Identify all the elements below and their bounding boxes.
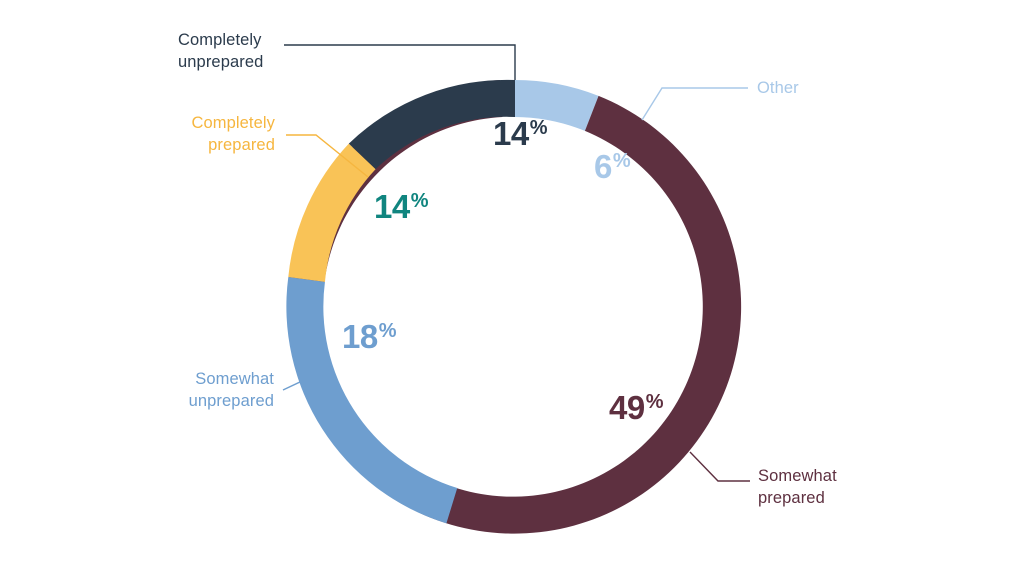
slice-value-number-somewhat-prepared: 49 [609, 389, 645, 426]
slice-value-number-completely-unprepared: 14 [493, 115, 529, 152]
slice-value-number-other: 6 [594, 148, 612, 185]
slice-label-somewhat-prepared: Somewhat prepared [758, 466, 938, 510]
slice-value-completely-prepared: 14% [374, 190, 429, 223]
percent-symbol-somewhat-unprepared: % [379, 320, 397, 342]
slice-label-other: Other [757, 78, 877, 100]
slice-value-somewhat-prepared: 49% [609, 391, 664, 424]
leader-line-somewhat-prepared [690, 452, 750, 481]
slice-value-other: 6% [594, 150, 631, 183]
slice-value-number-somewhat-unprepared: 18 [342, 318, 378, 355]
percent-symbol-somewhat-prepared: % [646, 391, 664, 413]
donut-segment-somewhat-unprepared[interactable] [286, 277, 457, 523]
slice-value-completely-unprepared: 14% [493, 117, 548, 150]
slice-value-somewhat-unprepared: 18% [342, 320, 397, 353]
percent-symbol-other: % [613, 150, 631, 172]
donut-chart: Completely unprepared Completely prepare… [0, 0, 1024, 561]
percent-symbol-completely-unprepared: % [530, 117, 548, 139]
donut-segment-completely-prepared[interactable] [288, 144, 375, 282]
percent-symbol-completely-prepared: % [411, 190, 429, 212]
leader-line-other [642, 88, 748, 120]
slice-label-somewhat-unprepared: Somewhat unprepared [105, 369, 274, 413]
donut-segment-completely-unprepared[interactable] [349, 80, 515, 169]
slice-value-number-completely-prepared: 14 [374, 188, 410, 225]
slice-label-completely-prepared: Completely prepared [120, 113, 275, 157]
slice-label-completely-unprepared: Completely unprepared [178, 30, 348, 74]
